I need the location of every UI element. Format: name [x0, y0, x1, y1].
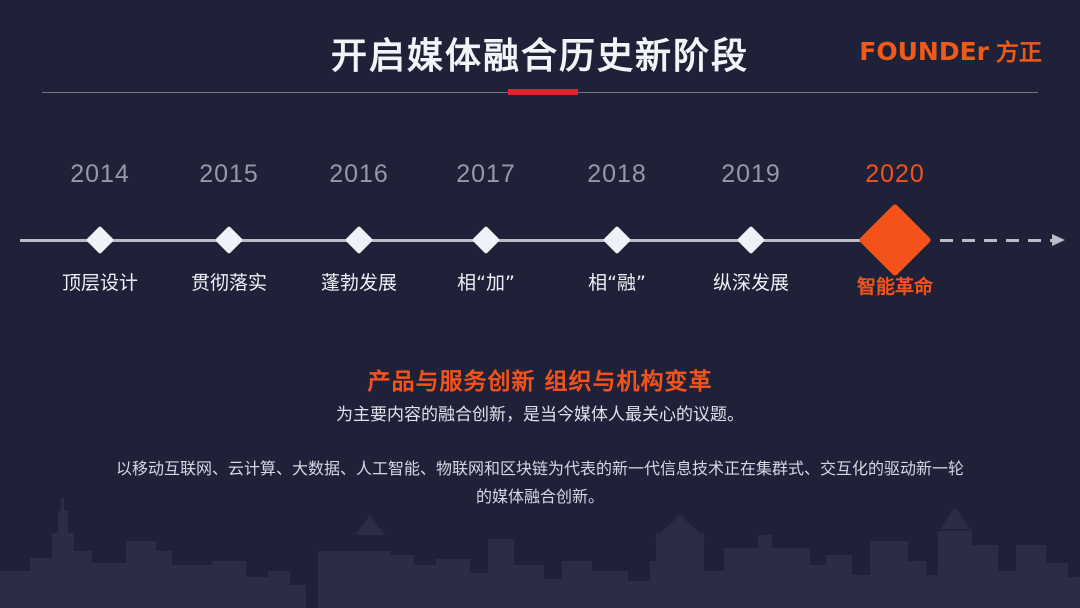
timeline-node-label: 纵深发展: [671, 268, 831, 295]
timeline-year: 2014: [40, 160, 160, 189]
lead-subheadline: 为主要内容的融合创新，是当今媒体人最关心的议题。: [0, 400, 1080, 425]
founder-logo: FOUNDEr方正: [859, 33, 1042, 67]
timeline-node-label-highlighted: 智能革命: [815, 272, 975, 299]
diamond-marker-icon: [345, 226, 373, 254]
body-paragraph: 以移动互联网、云计算、大数据、人工智能、物联网和区块链为代表的新一代信息技术正在…: [110, 455, 970, 511]
timeline-axis-dashed: [940, 239, 1052, 242]
timeline-year-highlighted: 2020: [835, 160, 955, 189]
timeline-year: 2015: [169, 160, 289, 189]
header-accent-bar: [508, 89, 578, 95]
logo-wordmark: FOUNDEr: [859, 37, 989, 66]
diamond-marker-icon: [472, 226, 500, 254]
logo-wordmark-cn: 方正: [996, 40, 1042, 66]
timeline-year: 2018: [557, 160, 677, 189]
diamond-marker-icon: [215, 226, 243, 254]
timeline: 2014 顶层设计 2015 贯彻落实 2016 蓬勃发展 2017 相“加” …: [0, 160, 1080, 320]
lead-headline: 产品与服务创新 组织与机构变革: [0, 362, 1080, 396]
timeline-year: 2016: [299, 160, 419, 189]
timeline-year: 2019: [691, 160, 811, 189]
slide: 开启媒体融合历史新阶段 FOUNDEr方正 2014 顶层设计 2015 贯彻落…: [0, 0, 1080, 608]
diamond-marker-icon: [737, 226, 765, 254]
diamond-marker-icon: [86, 226, 114, 254]
timeline-year: 2017: [426, 160, 546, 189]
timeline-arrow-icon: [1052, 234, 1065, 246]
diamond-marker-highlighted-icon: [858, 203, 932, 277]
slide-header: 开启媒体融合历史新阶段 FOUNDEr方正: [0, 0, 1080, 110]
diamond-marker-icon: [603, 226, 631, 254]
